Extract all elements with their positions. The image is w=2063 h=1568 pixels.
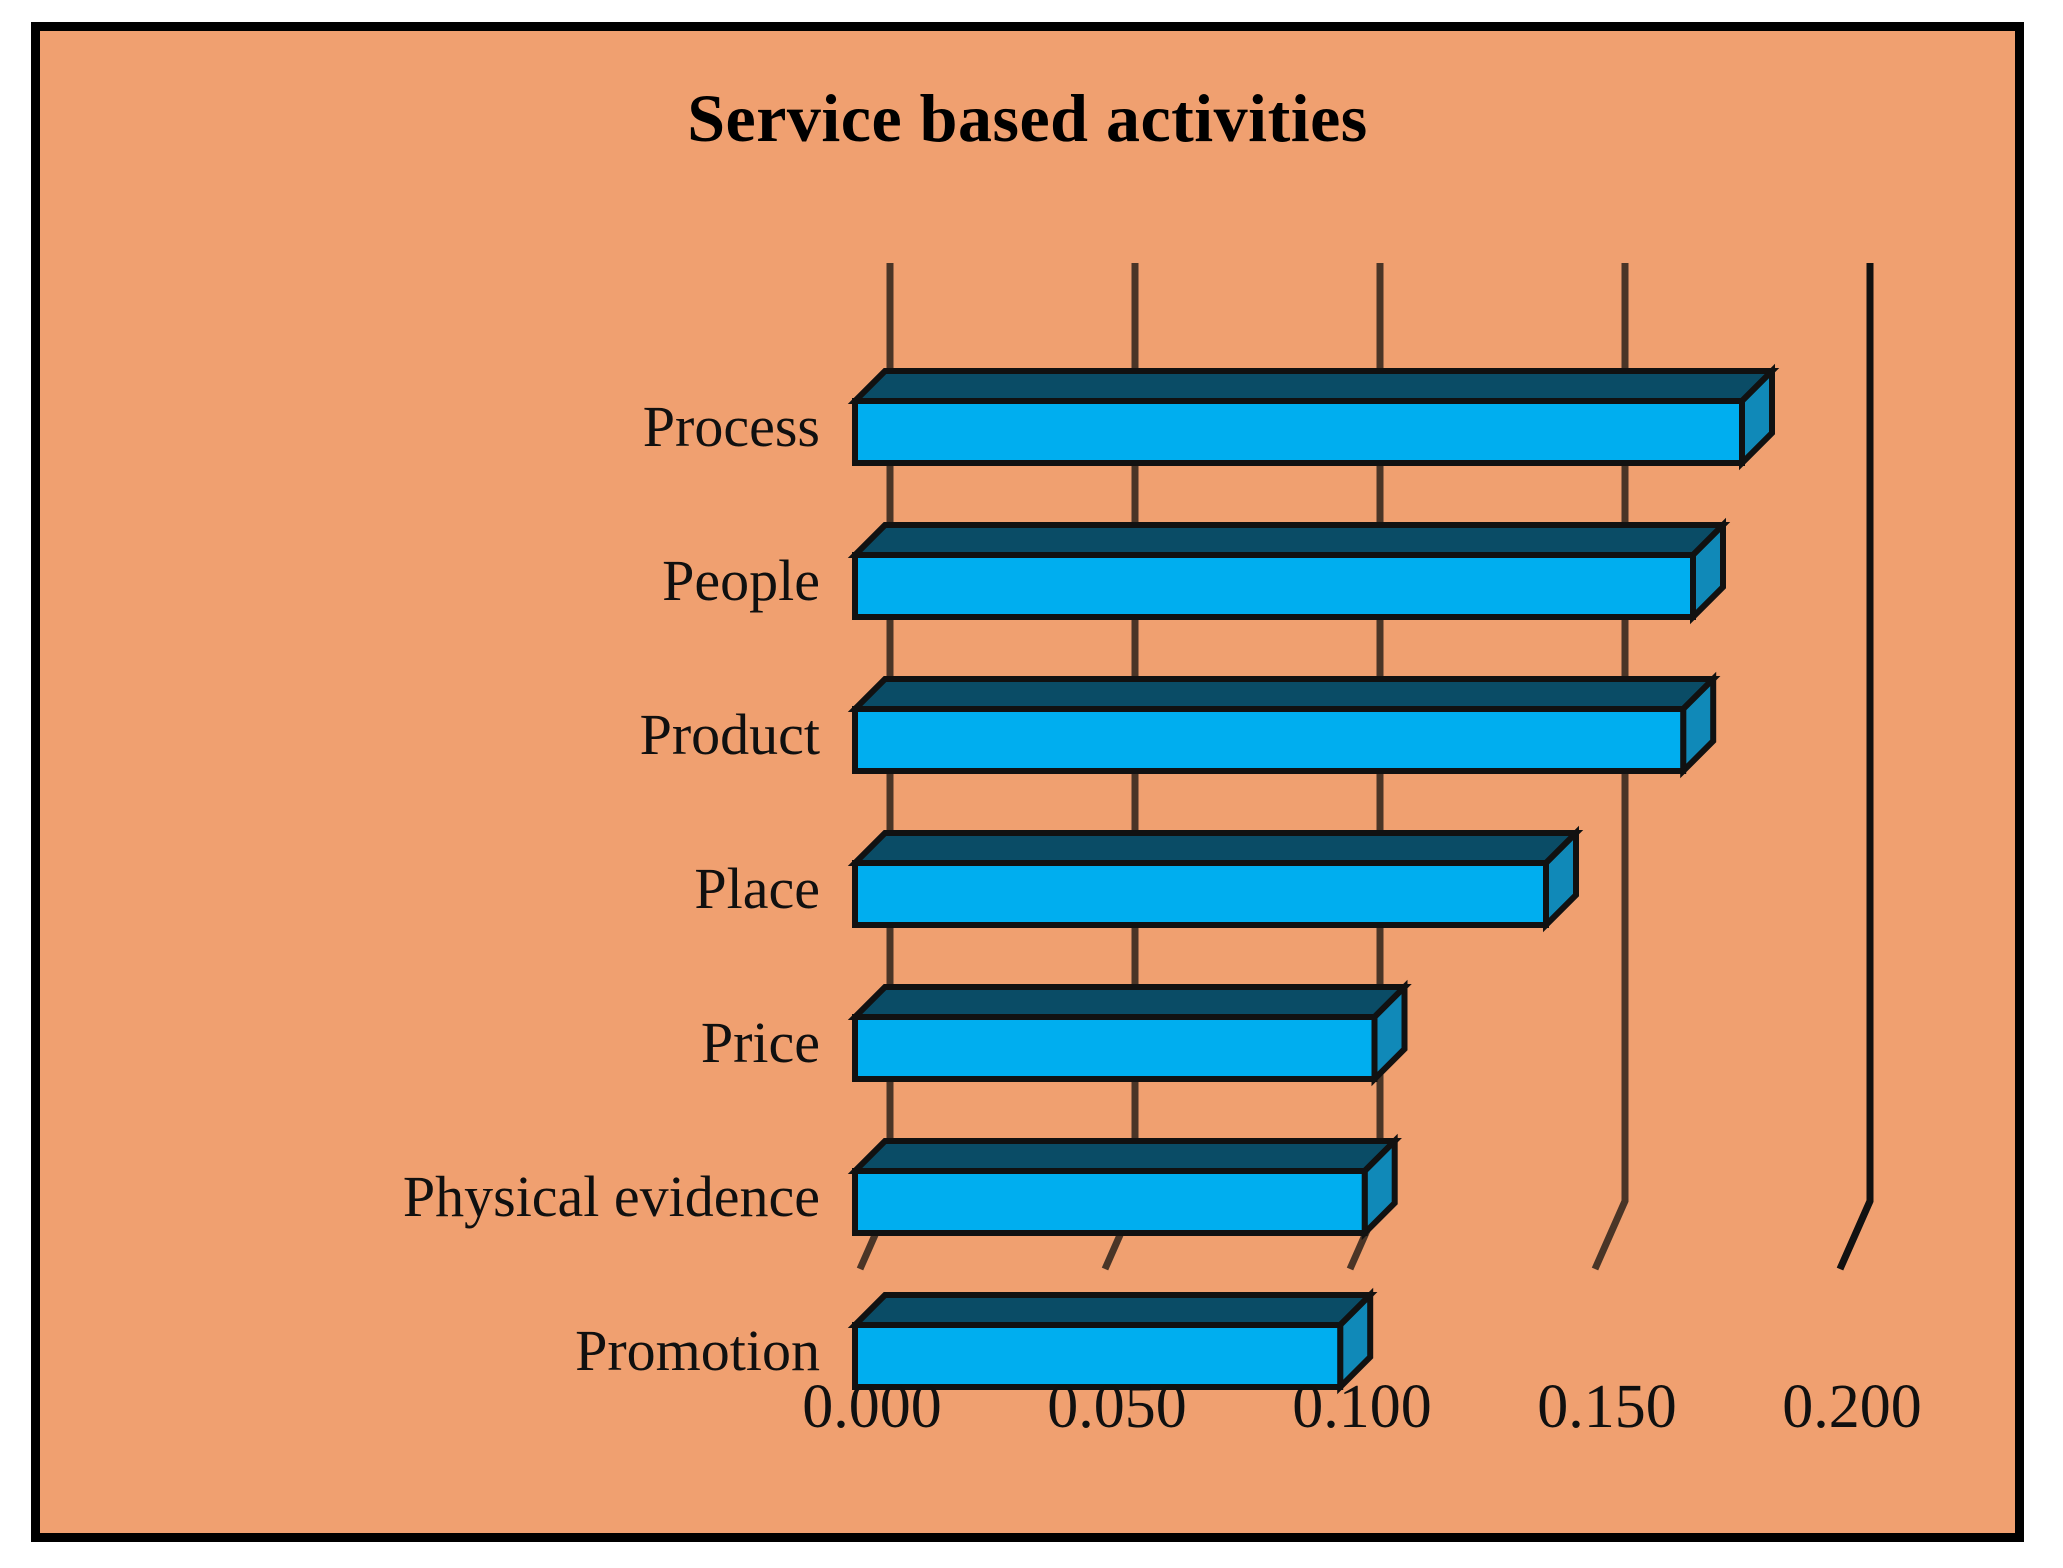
bar-0 bbox=[855, 371, 1772, 463]
x-axis-tick-labels: 0.0000.0500.1000.1500.200 bbox=[40, 1376, 2033, 1466]
bar-4 bbox=[855, 987, 1405, 1079]
chart-figure: Service based activities ProcessPeoplePr… bbox=[31, 22, 2024, 1542]
bar-chart-svg bbox=[40, 31, 2033, 1551]
plot-area bbox=[40, 31, 2033, 1551]
x-tick-label-2: 0.100 bbox=[1292, 1376, 1432, 1438]
x-tick-label-1: 0.050 bbox=[1047, 1376, 1187, 1438]
x-tick-label-3: 0.150 bbox=[1537, 1376, 1677, 1438]
x-tick-label-0: 0.000 bbox=[802, 1376, 942, 1438]
bar-5 bbox=[855, 1141, 1395, 1233]
bar-3 bbox=[855, 833, 1576, 925]
x-tick-label-4: 0.200 bbox=[1782, 1376, 1922, 1438]
gridline-4 bbox=[1840, 263, 1870, 1269]
bar-2 bbox=[855, 679, 1713, 771]
axis-right-edge bbox=[1840, 263, 1870, 1269]
bar-1 bbox=[855, 525, 1723, 617]
